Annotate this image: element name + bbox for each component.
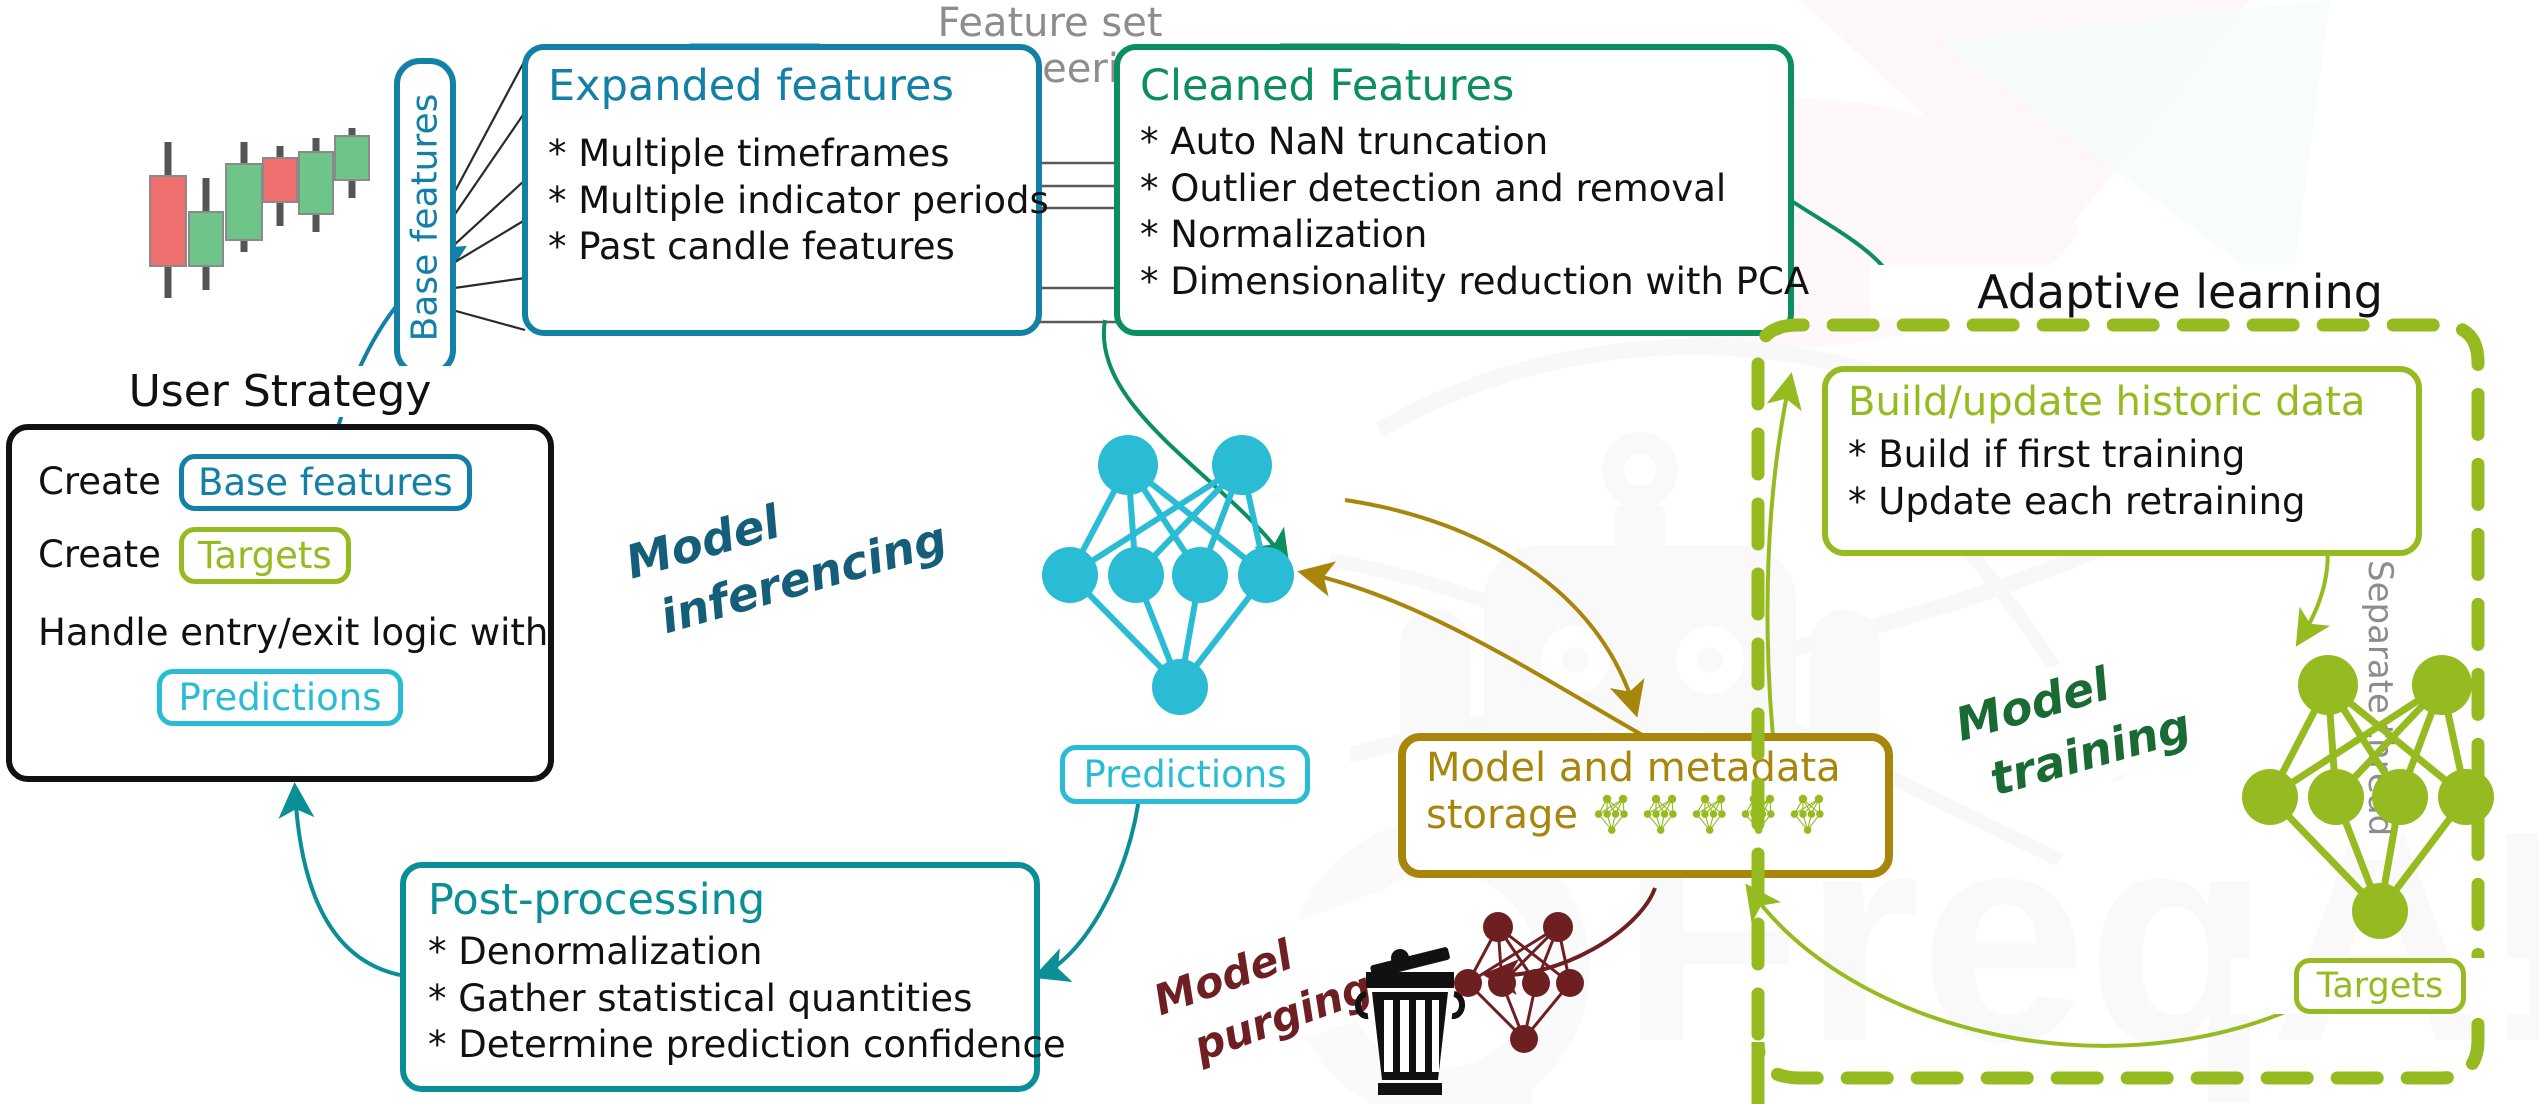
bullet-item: * Denormalization <box>428 929 1012 976</box>
entry-exit-logic-label: Handle entry/exit logic with <box>38 610 522 657</box>
training-targets-pill-wrap: Targets <box>2230 958 2530 1014</box>
cleaned-features-title: Cleaned Features <box>1140 64 1768 109</box>
expanded-features-title: Expanded features <box>548 64 1016 109</box>
model-storage-box[interactable]: Model and metadata storage <box>1398 733 1893 878</box>
model-inferencing-label: Model inferencing <box>619 451 942 653</box>
build-update-title: Build/update historic data <box>1848 378 2396 426</box>
build-update-historic-data-box[interactable]: Build/update historic data * Build if fi… <box>1822 366 2422 556</box>
predictions-pill-label: Predictions <box>178 676 381 719</box>
bullet-item: * Build if first training <box>1848 432 2396 479</box>
user-strategy-row-targets: Create Targets <box>38 527 522 584</box>
user-strategy-heading-label: User Strategy <box>129 366 432 417</box>
bullet-item: * Normalization <box>1140 212 1768 259</box>
bullet-item: * Determine prediction confidence <box>428 1022 1012 1069</box>
diagram-canvas: FreqAI <box>0 0 2539 1104</box>
adaptive-learning-heading-label: Adaptive learning <box>1977 265 2383 319</box>
training-targets-pill[interactable]: Targets <box>2294 958 2467 1014</box>
bullet-item: * Multiple indicator periods <box>548 178 1016 225</box>
base-features-pill[interactable]: Base features <box>179 454 472 511</box>
bullet-item: * Dimensionality reduction with PCA <box>1140 259 1768 306</box>
base-features-pill-label: Base features <box>198 461 453 504</box>
targets-pill-label: Targets <box>198 534 332 577</box>
base-features-tag-label: Base features <box>405 93 446 341</box>
model-storage-line2: storage <box>1426 792 1578 838</box>
post-processing-bullets: * Denormalization * Gather statistical q… <box>428 929 1012 1069</box>
targets-pill[interactable]: Targets <box>179 527 351 584</box>
bullet-item: * Multiple timeframes <box>548 131 1016 178</box>
cleaned-features-box[interactable]: Cleaned Features * Auto NaN truncation *… <box>1114 44 1794 336</box>
build-update-bullets: * Build if first training * Update each … <box>1848 432 2396 525</box>
expanded-features-bullets: * Multiple timeframes * Multiple indicat… <box>548 131 1016 271</box>
bullet-item: * Outlier detection and removal <box>1140 166 1768 213</box>
bullet-item: * Auto NaN truncation <box>1140 119 1768 166</box>
inferencing-neural-network <box>1020 425 1350 730</box>
cleaned-features-bullets: * Auto NaN truncation * Outlier detectio… <box>1140 119 1768 305</box>
inferencing-predictions-pill-wrap: Predictions <box>1020 745 1350 804</box>
inferencing-predictions-label: Predictions <box>1083 753 1286 796</box>
inferencing-predictions-pill[interactable]: Predictions <box>1060 745 1309 804</box>
bullet-item: * Update each retraining <box>1848 479 2396 526</box>
create-label: Create <box>38 532 161 579</box>
bullet-item: * Gather statistical quantities <box>428 976 1012 1023</box>
adaptive-learning-heading: Adaptive learning <box>1870 265 2490 319</box>
predictions-pill[interactable]: Predictions <box>157 669 402 726</box>
user-strategy-row-base-features: Create Base features <box>38 454 522 511</box>
training-targets-label: Targets <box>2317 966 2444 1006</box>
user-strategy-row-predictions: Predictions <box>38 669 522 726</box>
training-neural-network <box>2230 645 2530 945</box>
post-processing-title: Post-processing <box>428 878 1012 923</box>
model-storage-line1: Model and metadata <box>1426 745 1865 792</box>
model-training-label: Model training <box>1948 619 2251 816</box>
bullet-item: * Past candle features <box>548 224 1016 271</box>
user-strategy-heading: User Strategy <box>0 366 560 417</box>
stored-models-icon <box>1592 792 1865 838</box>
post-processing-box[interactable]: Post-processing * Denormalization * Gath… <box>400 862 1040 1092</box>
candlestick-chart <box>140 120 380 340</box>
create-label: Create <box>38 459 161 506</box>
user-strategy-box[interactable]: Create Base features Create Targets Hand… <box>6 424 554 782</box>
purged-neural-network <box>1440 905 1620 1065</box>
expanded-features-box[interactable]: Expanded features * Multiple timeframes … <box>522 44 1042 336</box>
base-features-tag[interactable]: Base features <box>394 58 456 376</box>
